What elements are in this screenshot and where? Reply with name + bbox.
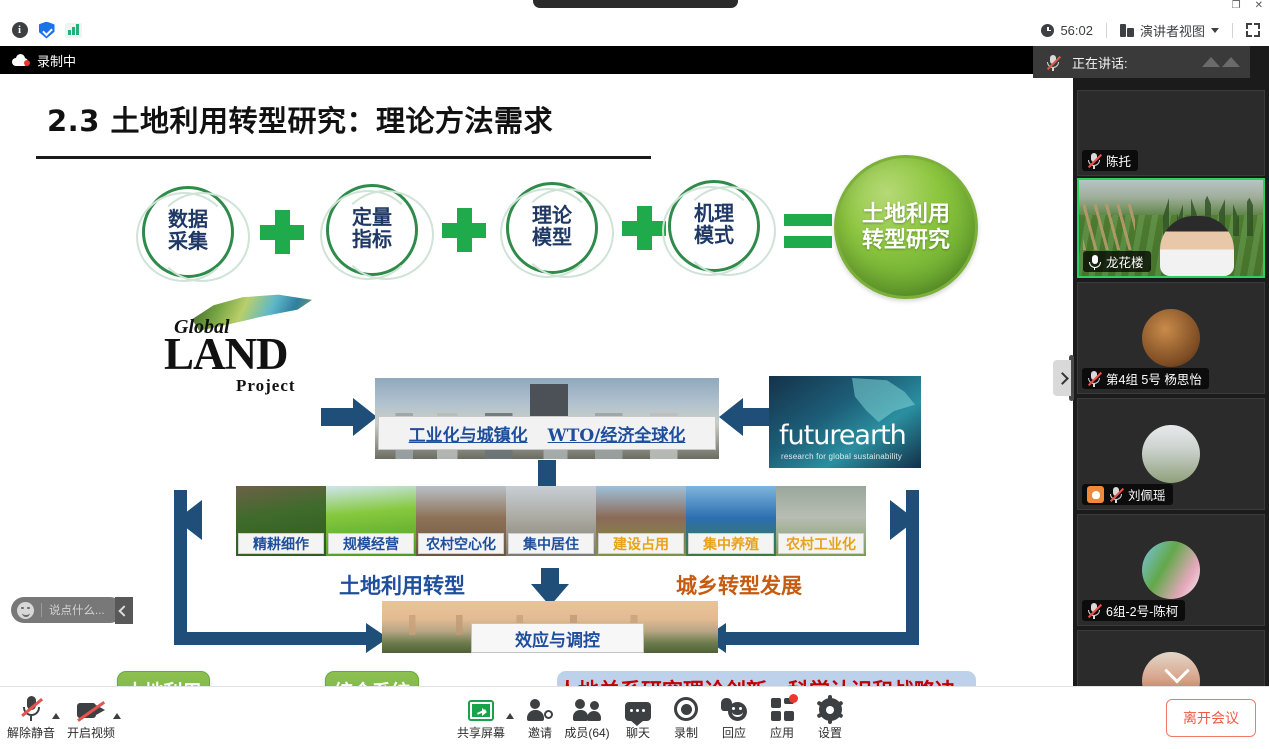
share-screen-icon (468, 691, 494, 721)
window-title-pill (533, 0, 738, 8)
window-controls[interactable]: ❐ ✕ (1232, 0, 1263, 11)
mute-options-chevron-icon[interactable] (52, 713, 60, 719)
future-earth-logo: futurearth research for global sustainab… (769, 376, 921, 468)
flow-box-2: 综合系统研究 (325, 671, 419, 686)
meeting-toolbar: 解除静音 开启视频 共享屏幕 邀请 成员(64) (0, 686, 1269, 749)
label-urban-rural-development: 城乡转型发展 (676, 570, 802, 600)
future-earth-tagline: research for global sustainability (781, 452, 902, 461)
video-options-chevron-icon[interactable] (113, 713, 121, 719)
meeting-topbar: i 56:02 演讲者视图 (0, 14, 1269, 46)
waveform-icon (1202, 57, 1240, 67)
participants-icon (573, 691, 601, 721)
flow-box-1: 土地利用转型视角 (117, 671, 210, 686)
strip-caption: 精耕细作 (238, 533, 324, 554)
strip-photo: 集中养殖 (686, 486, 776, 556)
shield-icon[interactable] (38, 22, 55, 39)
city-photo-band: 工业化与城镇化 WTO/经济全球化 (375, 378, 719, 459)
participant-tile-active-speaker[interactable]: 龙花楼 (1077, 178, 1265, 278)
formula-result: 土地利用转型研究 (834, 155, 978, 299)
speaker-view-icon (1120, 24, 1134, 37)
strip-caption: 集中养殖 (688, 533, 774, 554)
signal-icon[interactable] (65, 22, 82, 39)
shared-screen-slide: 2.3 土地利用转型研究：理论方法需求 数据采集 定量指标 理论模型 机理模式 … (14, 82, 1066, 686)
host-badge-icon (1087, 486, 1104, 503)
emoji-icon[interactable] (17, 602, 34, 619)
mic-on-icon (1088, 254, 1101, 270)
formula-term-1: 数据采集 (142, 186, 234, 278)
divider (41, 603, 42, 617)
record-icon (674, 691, 698, 721)
chevron-down-icon[interactable] (1211, 28, 1219, 33)
window-titlebar: ❐ ✕ (0, 0, 1269, 14)
formula-term-2: 定量指标 (326, 184, 418, 276)
equals-icon (784, 214, 832, 248)
city-band-caption: 工业化与城镇化 WTO/经济全球化 (378, 416, 716, 450)
city-band-caption-right: WTO/经济全球化 (548, 421, 686, 446)
panel-collapse-tab[interactable] (1053, 360, 1071, 396)
toolbar-label: 解除静音 (7, 724, 55, 741)
loop-right-horizontal (726, 632, 919, 645)
strip-caption: 农村空心化 (418, 533, 504, 554)
slide-title: 2.3 土地利用转型研究：理论方法需求 (47, 98, 553, 140)
strip-photo: 农村空心化 (416, 486, 506, 556)
arrow-left-icon-1 (719, 398, 775, 436)
mic-off-icon (1087, 152, 1101, 169)
arrow-left-icon-2 (876, 500, 916, 540)
strip-photo: 集中居住 (506, 486, 596, 556)
apps-icon (771, 691, 794, 721)
fullscreen-icon[interactable] (1246, 23, 1260, 37)
avatar (1142, 425, 1200, 483)
avatar (1142, 541, 1200, 599)
meeting-window: ❐ ✕ i 56:02 演讲者视图 (0, 0, 1269, 749)
city-band-caption-left: 工业化与城镇化 (409, 421, 528, 446)
view-mode-label: 演讲者视图 (1140, 21, 1205, 40)
timer-value: 56:02 (1060, 23, 1093, 38)
scroll-down-chevron-icon[interactable] (1163, 664, 1191, 686)
global-land-project-logo: Global LAND Project (164, 294, 334, 372)
camera-off-icon (77, 691, 105, 721)
toolbar-label: 录制 (674, 724, 698, 741)
strip-caption: 集中居住 (508, 533, 594, 554)
participant-name: 刘佩瑶 (1128, 485, 1166, 504)
chat-icon (625, 691, 651, 721)
photo-strip: 精耕细作 规模经营 农村空心化 集中居住 建设占用 集中养殖 农村工业化 (236, 486, 866, 556)
glp-word-bottom: Project (236, 376, 296, 396)
toolbar-button-settings[interactable]: 设置 (799, 691, 861, 741)
participant-tile[interactable]: 第4组 5号 杨思怡 (1077, 282, 1265, 394)
participant-namebar: 6组-2号-陈柯 (1082, 600, 1185, 621)
participant-namebar: 刘佩瑶 (1082, 484, 1173, 505)
participant-name: 6组-2号-陈柯 (1106, 601, 1178, 620)
clock-icon (1041, 24, 1054, 37)
divider (1232, 23, 1233, 38)
mic-off-icon (1109, 486, 1123, 503)
participant-tile[interactable]: 6组-2号-陈柯 (1077, 514, 1265, 626)
toolbar-label: 开启视频 (67, 724, 115, 741)
invite-icon (527, 691, 553, 721)
quick-chat-bubble[interactable]: 说点什么... (11, 597, 123, 623)
toolbar-label: 邀请 (528, 724, 552, 741)
participant-name: 龙花楼 (1106, 252, 1144, 271)
arrow-right-icon-2 (176, 500, 216, 540)
meeting-timer: 56:02 (1041, 23, 1093, 38)
quick-chat-placeholder[interactable]: 说点什么... (49, 602, 105, 618)
participant-namebar: 龙花楼 (1083, 251, 1151, 272)
apps-notification-badge (789, 694, 798, 703)
maximize-icon[interactable]: ❐ (1232, 0, 1241, 11)
plus-icon-3 (622, 206, 666, 250)
arrow-right-icon-1 (321, 398, 377, 436)
strip-caption: 建设占用 (598, 533, 684, 554)
leave-meeting-button[interactable]: 离开会议 (1166, 699, 1256, 737)
strip-photo: 规模经营 (326, 486, 416, 556)
toolbar-button-share-screen[interactable]: 共享屏幕 (450, 691, 512, 741)
participant-tile[interactable]: 刘佩瑶 (1077, 398, 1265, 510)
strip-photo: 精耕细作 (236, 486, 326, 556)
close-icon[interactable]: ✕ (1255, 0, 1263, 11)
topbar-right-controls: 56:02 演讲者视图 (1041, 21, 1269, 40)
view-mode-switcher[interactable]: 演讲者视图 (1120, 21, 1219, 40)
reactions-icon (721, 691, 747, 721)
topbar-status-icons: i (0, 22, 82, 39)
formula-row: 数据采集 定量指标 理论模型 机理模式 土地利用转型研究 (124, 172, 1004, 297)
settings-icon (819, 691, 842, 721)
recording-label: 录制中 (37, 51, 76, 70)
strip-photo: 建设占用 (596, 486, 686, 556)
toolbar-label: 共享屏幕 (457, 724, 505, 741)
label-land-use-transition: 土地利用转型 (339, 570, 465, 600)
plus-icon-2 (442, 208, 486, 252)
speaking-tooltip: 正在讲话: (1033, 46, 1250, 78)
toolbar-label: 设置 (818, 724, 842, 741)
participant-tile[interactable]: 陈托 (1077, 90, 1265, 176)
mic-off-icon (1046, 54, 1060, 71)
cloud-recording-icon (12, 54, 30, 66)
mic-off-icon (1087, 602, 1101, 619)
glp-word-mid: LAND (164, 328, 288, 380)
loop-left-horizontal (174, 632, 374, 645)
strip-caption: 规模经营 (328, 533, 414, 554)
plus-icon-1 (260, 210, 304, 254)
conclusion-box: 人地关系研究理论创新、科学认识和战略决策 (557, 671, 976, 686)
formula-term-3: 理论模型 (506, 182, 598, 274)
info-icon[interactable]: i (11, 22, 28, 39)
divider (1106, 23, 1107, 38)
toolbar-label: 回应 (722, 724, 746, 741)
participant-namebar: 第4组 5号 杨思怡 (1082, 368, 1209, 389)
speaking-tooltip-label: 正在讲话: (1072, 53, 1128, 72)
toolbar-label: 聊天 (626, 724, 650, 741)
title-underline (36, 156, 651, 159)
participant-name: 陈托 (1106, 151, 1131, 170)
toolbar-label: 应用 (770, 724, 794, 741)
toolbar-label: 成员(64) (564, 724, 609, 741)
participant-namebar: 陈托 (1082, 150, 1138, 171)
strip-photo: 农村工业化 (776, 486, 866, 556)
strip-caption: 农村工业化 (778, 533, 864, 554)
chat-collapse-tab[interactable] (115, 597, 133, 624)
participant-name: 第4组 5号 杨思怡 (1106, 369, 1202, 388)
effect-regulation-box: 效应与调控 (471, 623, 644, 653)
formula-term-4: 机理模式 (668, 180, 760, 272)
world-map-icon (845, 378, 915, 424)
mic-off-icon (1087, 370, 1101, 387)
participants-panel: 陈托 龙花楼 第4组 5号 杨思怡 (1073, 46, 1269, 686)
avatar (1142, 309, 1200, 367)
future-earth-wordmark: futurearth (779, 420, 906, 451)
mic-off-icon (21, 691, 41, 721)
